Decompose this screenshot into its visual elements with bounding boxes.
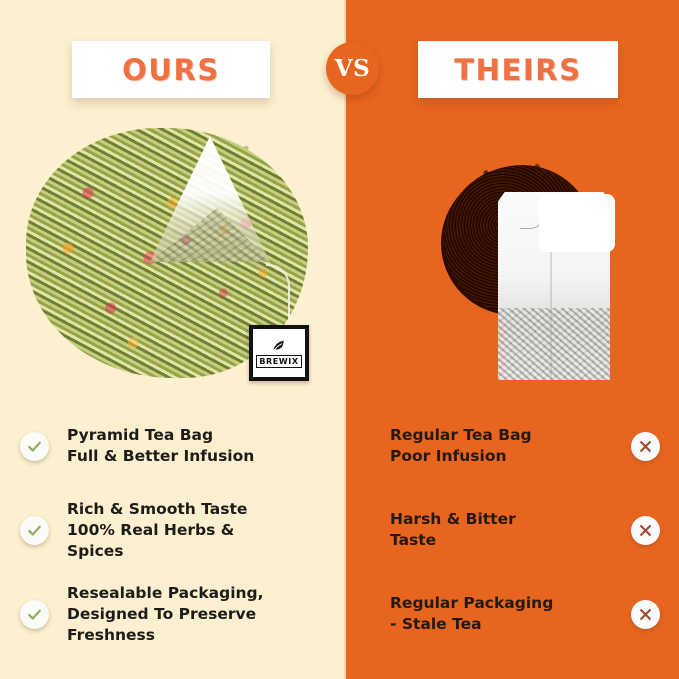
leaf-logo-icon <box>272 339 286 353</box>
vs-label: VS <box>335 55 370 82</box>
panel-divider <box>344 0 346 679</box>
theirs-feature-text: Regular Packaging - Stale Tea <box>390 593 553 635</box>
cross-icon <box>638 523 653 538</box>
check-circle-icon <box>20 432 49 461</box>
theirs-banner: THEIRS <box>418 41 618 98</box>
ours-feature-row: Resealable Packaging, Designed To Preser… <box>20 572 320 656</box>
theirs-feature-text: Harsh & Bitter Taste <box>390 509 516 551</box>
brand-tag: BREWIX <box>249 325 309 381</box>
ours-label: OURS <box>122 53 220 87</box>
check-icon <box>26 522 43 539</box>
cross-circle-icon <box>631 600 660 629</box>
check-icon <box>26 438 43 455</box>
theirs-feature-list: Regular Tea Bag Poor Infusion Harsh & Bi… <box>390 404 660 656</box>
theirs-feature-row: Harsh & Bitter Taste <box>390 488 660 572</box>
ours-feature-text: Pyramid Tea Bag Full & Better Infusion <box>67 425 254 467</box>
cross-icon <box>638 607 653 622</box>
brand-name: BREWIX <box>256 355 301 368</box>
tea-bag-paper-tag <box>539 194 615 252</box>
tea-bag-contents <box>498 308 610 380</box>
ours-feature-row: Rich & Smooth Taste 100% Real Herbs & Sp… <box>20 488 320 572</box>
check-circle-icon <box>20 600 49 629</box>
check-circle-icon <box>20 516 49 545</box>
brand-tag-inner: BREWIX <box>253 329 305 377</box>
ours-feature-text: Resealable Packaging, Designed To Preser… <box>67 583 264 646</box>
check-icon <box>26 606 43 623</box>
vs-badge: VS <box>326 42 379 95</box>
comparison-infographic: BREWIX OURS VS THEIRS Pyramid Tea Bag Fu… <box>0 0 679 679</box>
cross-circle-icon <box>631 432 660 461</box>
ours-banner: OURS <box>72 41 270 98</box>
cross-icon <box>638 439 653 454</box>
theirs-label: THEIRS <box>454 53 581 87</box>
cross-circle-icon <box>631 516 660 545</box>
ours-feature-row: Pyramid Tea Bag Full & Better Infusion <box>20 404 320 488</box>
theirs-feature-text: Regular Tea Bag Poor Infusion <box>390 425 532 467</box>
theirs-feature-row: Regular Tea Bag Poor Infusion <box>390 404 660 488</box>
tea-bag-seam <box>550 240 552 380</box>
theirs-feature-row: Regular Packaging - Stale Tea <box>390 572 660 656</box>
ours-feature-list: Pyramid Tea Bag Full & Better Infusion R… <box>20 404 320 656</box>
ours-feature-text: Rich & Smooth Taste 100% Real Herbs & Sp… <box>67 499 247 562</box>
